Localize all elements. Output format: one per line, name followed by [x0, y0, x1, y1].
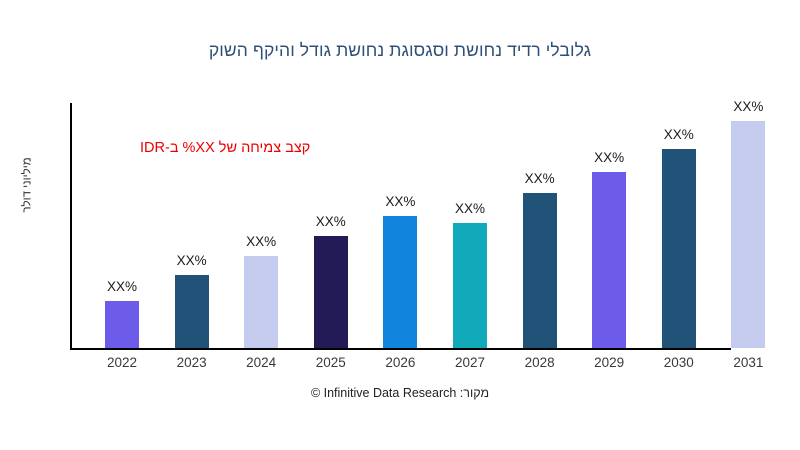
bar-value-label-2022: XX%	[92, 279, 152, 294]
bar-2029	[592, 172, 626, 348]
bar-value-label-2024: XX%	[231, 234, 291, 249]
bar-2023	[175, 275, 209, 348]
x-tick-label-2022: 2022	[90, 355, 154, 370]
chart-container: גלובלי רדיד נחושת וסגסוגת נחושת גודל והי…	[0, 0, 800, 450]
bar-value-label-2025: XX%	[301, 214, 361, 229]
source-note: מקור: Infinitive Data Research ©	[0, 386, 800, 400]
bar-2027	[453, 223, 487, 348]
x-tick-label-2030: 2030	[647, 355, 711, 370]
x-tick-label-2023: 2023	[160, 355, 224, 370]
bar-2026	[383, 216, 417, 348]
bar-2022	[105, 301, 139, 348]
x-tick-label-2027: 2027	[438, 355, 502, 370]
bar-value-label-2028: XX%	[510, 171, 570, 186]
x-tick-label-2025: 2025	[299, 355, 363, 370]
bar-2024	[244, 256, 278, 348]
x-tick-label-2029: 2029	[577, 355, 641, 370]
bar-2028	[523, 193, 557, 348]
bar-value-label-2030: XX%	[649, 127, 709, 142]
bar-value-label-2026: XX%	[370, 194, 430, 209]
bars-layer: XX%2022XX%2023XX%2024XX%2025XX%2026XX%20…	[0, 0, 800, 450]
bar-2030	[662, 149, 696, 348]
bar-value-label-2031: XX%	[718, 99, 778, 114]
x-tick-label-2031: 2031	[716, 355, 780, 370]
x-tick-label-2024: 2024	[229, 355, 293, 370]
x-tick-label-2026: 2026	[368, 355, 432, 370]
bar-value-label-2027: XX%	[440, 201, 500, 216]
bar-2025	[314, 236, 348, 348]
bar-2031	[731, 121, 765, 348]
bar-value-label-2029: XX%	[579, 150, 639, 165]
x-tick-label-2028: 2028	[508, 355, 572, 370]
bar-value-label-2023: XX%	[162, 253, 222, 268]
